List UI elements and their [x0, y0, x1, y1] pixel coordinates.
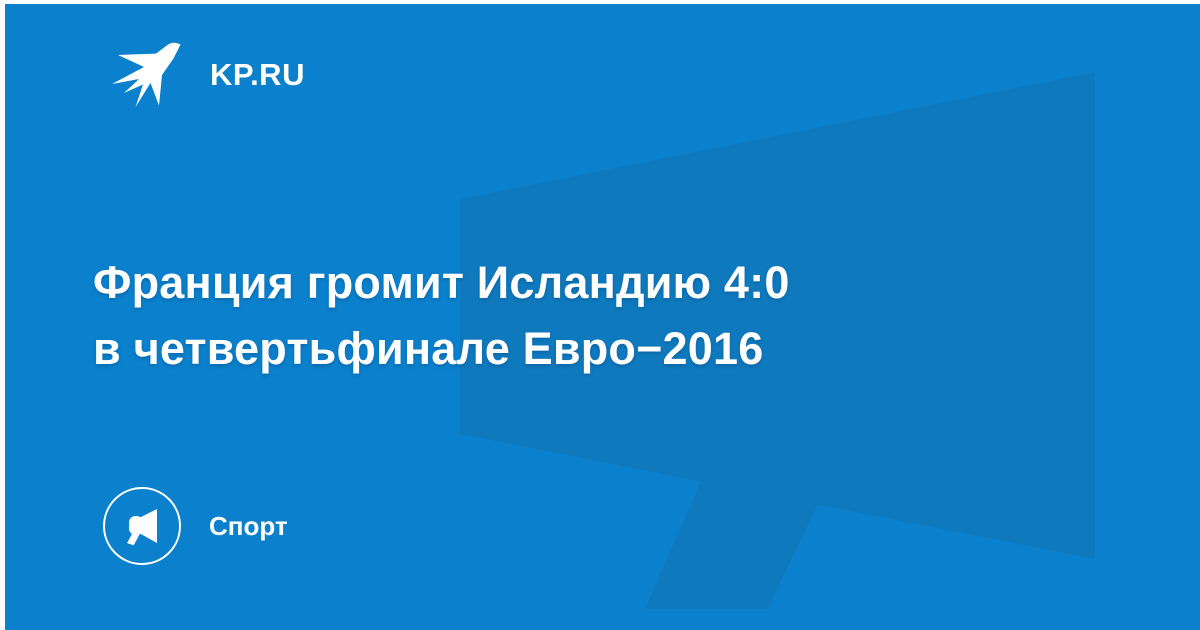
brand-block[interactable]: KP.RU — [110, 37, 305, 111]
page-title: Франция громит Исландию 4:0 в четвертьфи… — [93, 250, 1073, 382]
share-card: KP.RU Франция громит Исландию 4:0 в четв… — [0, 0, 1200, 630]
swallow-bird-logo-icon — [110, 38, 182, 110]
rubric-icon-circle — [103, 487, 181, 565]
headline-line-1: Франция громит Исландию 4:0 — [93, 250, 1073, 316]
card-canvas: KP.RU Франция громит Исландию 4:0 в четв… — [5, 4, 1200, 630]
brand-name: KP.RU — [210, 59, 305, 90]
headline-line-2: в четвертьфинале Евро−2016 — [93, 316, 1073, 382]
rubric-badge[interactable]: Спорт — [103, 487, 288, 565]
rubric-label: Спорт — [209, 513, 288, 539]
megaphone-icon — [121, 505, 163, 547]
